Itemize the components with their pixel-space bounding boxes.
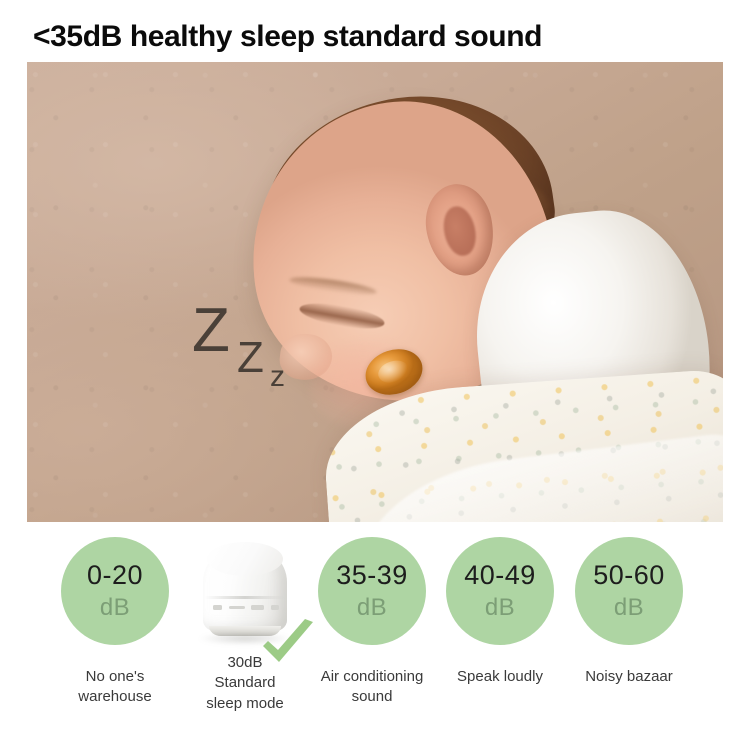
decibel-scale: 0-20 dB No one's warehouse xyxy=(0,528,750,750)
diffuser-icon xyxy=(185,540,305,645)
diffuser-button-2 xyxy=(229,606,245,609)
page-title: <35dB healthy sleep standard sound xyxy=(33,18,723,56)
sleep-z-icon-medium: Z xyxy=(237,336,264,380)
decibel-range: 40-49 xyxy=(464,562,536,589)
diffuser-top-dome xyxy=(207,542,283,576)
scale-item-40-49: 40-49 dB Speak loudly xyxy=(425,528,575,687)
diffuser-button-1 xyxy=(213,605,222,610)
sleep-z-icon-small: z xyxy=(270,362,285,392)
decibel-range: 50-60 xyxy=(593,562,665,589)
diffuser-control-buttons xyxy=(213,603,279,612)
decibel-bubble: 0-20 dB xyxy=(61,537,169,645)
decibel-unit: dB xyxy=(100,596,130,620)
caption-line-1: Noisy bazaar xyxy=(554,667,704,687)
decibel-unit: dB xyxy=(485,596,515,620)
infographic-page: <35dB healthy sleep standard sound Z Z z… xyxy=(0,0,750,750)
decibel-bubble: 35-39 dB xyxy=(318,537,426,645)
caption-line-1: Speak loudly xyxy=(425,667,575,687)
scale-caption: Speak loudly xyxy=(425,667,575,687)
scale-item-50-60: 50-60 dB Noisy bazaar xyxy=(554,528,704,687)
diffuser-button-3 xyxy=(251,605,264,610)
decibel-range: 0-20 xyxy=(87,562,143,589)
decibel-unit: dB xyxy=(357,596,387,620)
diffuser-button-4 xyxy=(271,605,279,610)
diffuser-seam xyxy=(205,596,285,599)
sleep-z-icon-large: Z xyxy=(192,300,230,362)
decibel-range: 35-39 xyxy=(336,562,408,589)
hero-photo-sleeping-baby: Z Z z xyxy=(27,62,723,522)
decibel-unit: dB xyxy=(614,596,644,620)
caption-line-2: sound xyxy=(297,687,447,707)
decibel-bubble: 40-49 dB xyxy=(446,537,554,645)
decibel-bubble: 50-60 dB xyxy=(575,537,683,645)
scale-caption: Noisy bazaar xyxy=(554,667,704,687)
